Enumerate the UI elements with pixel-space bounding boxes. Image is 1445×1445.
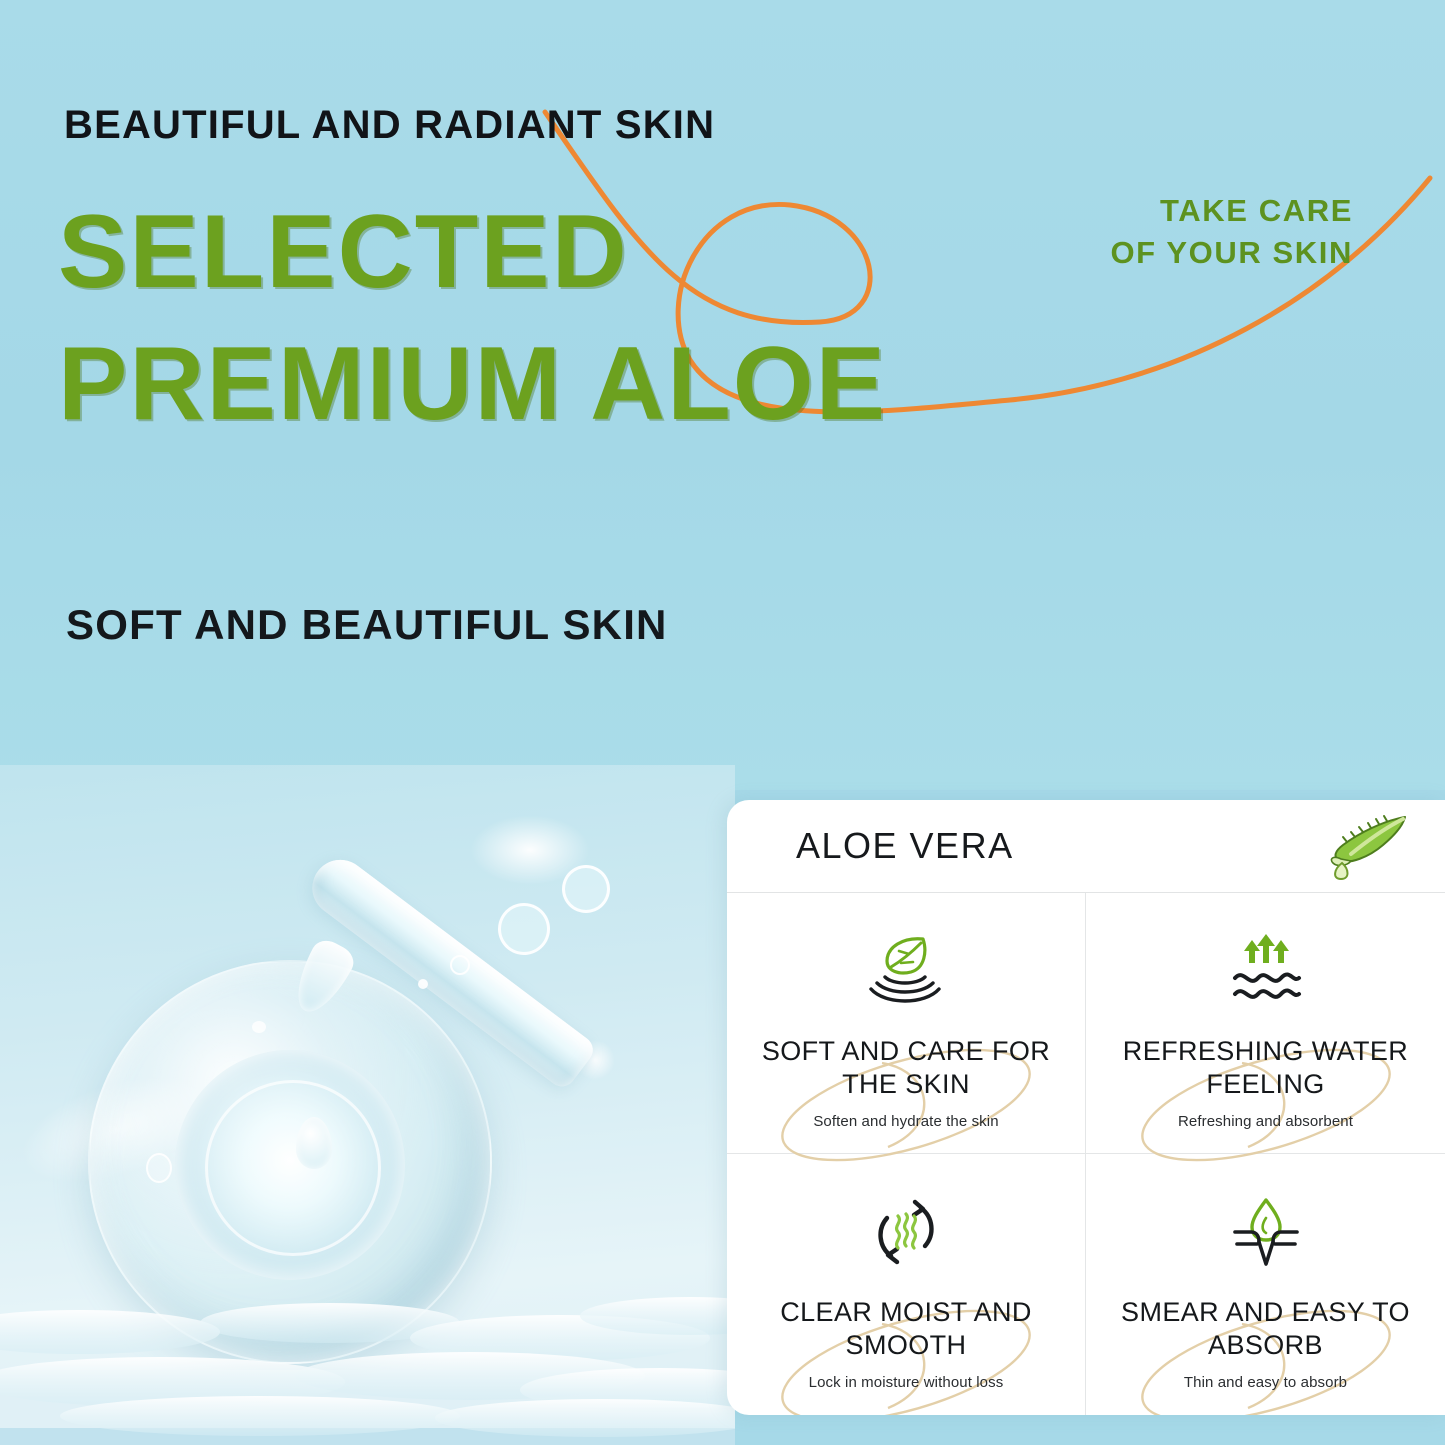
feature-title: SOFT AND CARE FOR THE SKIN	[751, 1035, 1061, 1101]
feature-subtitle: Refreshing and absorbent	[1178, 1113, 1353, 1130]
dropper-bubble	[488, 893, 561, 966]
product-photo	[0, 765, 735, 1445]
dropper-bubble	[450, 955, 470, 975]
headline-line-1: SELECTED	[58, 186, 887, 318]
feature-subtitle: Lock in moisture without loss	[809, 1374, 1004, 1391]
arrows-over-waves-icon	[1218, 929, 1314, 1013]
banner-subline: SOFT AND BEAUTIFUL SKIN	[66, 601, 668, 649]
feature-cell-clear-moist: CLEAR MOIST AND SMOOTH Lock in moisture …	[727, 1154, 1086, 1415]
leaf-on-ripples-icon	[858, 929, 954, 1013]
aloe-leaf-drop-icon	[1313, 809, 1417, 883]
feature-title: SMEAR AND EASY TO ABSORB	[1111, 1296, 1421, 1362]
take-care-line-2: OF YOUR SKIN	[1110, 232, 1353, 274]
circular-arrows-moisture-icon	[858, 1190, 954, 1274]
feature-cell-soft-and-care: SOFT AND CARE FOR THE SKIN Soften and hy…	[727, 893, 1086, 1154]
take-care-line-1: TAKE CARE	[1110, 190, 1353, 232]
droplet-absorb-arrow-icon	[1218, 1190, 1314, 1274]
feature-grid: SOFT AND CARE FOR THE SKIN Soften and hy…	[727, 893, 1445, 1415]
dropper-bubble	[562, 865, 610, 913]
gel-bubble	[252, 1021, 266, 1033]
hero-banner: BEAUTIFUL AND RADIANT SKIN SELECTED PREM…	[0, 0, 1445, 790]
gel-bubble	[146, 1153, 172, 1183]
card-title: ALOE VERA	[796, 825, 1014, 867]
feature-subtitle: Thin and easy to absorb	[1184, 1374, 1347, 1391]
dropper-bubble	[418, 979, 428, 989]
feature-title: REFRESHING WATER FEELING	[1111, 1035, 1421, 1101]
feature-cell-refreshing-water: REFRESHING WATER FEELING Refreshing and …	[1086, 893, 1445, 1154]
feature-subtitle: Soften and hydrate the skin	[813, 1113, 998, 1130]
feature-cell-smear-absorb: SMEAR AND EASY TO ABSORB Thin and easy t…	[1086, 1154, 1445, 1415]
banner-headline: SELECTED PREMIUM ALOE	[58, 186, 887, 450]
water-ripple-texture	[0, 1220, 735, 1445]
feature-title: CLEAR MOIST AND SMOOTH	[751, 1296, 1061, 1362]
take-care-badge: TAKE CARE OF YOUR SKIN	[1110, 190, 1353, 274]
product-poster: BEAUTIFUL AND RADIANT SKIN SELECTED PREM…	[0, 0, 1445, 1445]
banner-eyebrow: BEAUTIFUL AND RADIANT SKIN	[64, 103, 715, 148]
aloe-vera-info-card: ALOE VERA	[727, 800, 1445, 1415]
headline-line-2: PREMIUM ALOE	[58, 318, 887, 450]
card-header: ALOE VERA	[727, 800, 1445, 893]
